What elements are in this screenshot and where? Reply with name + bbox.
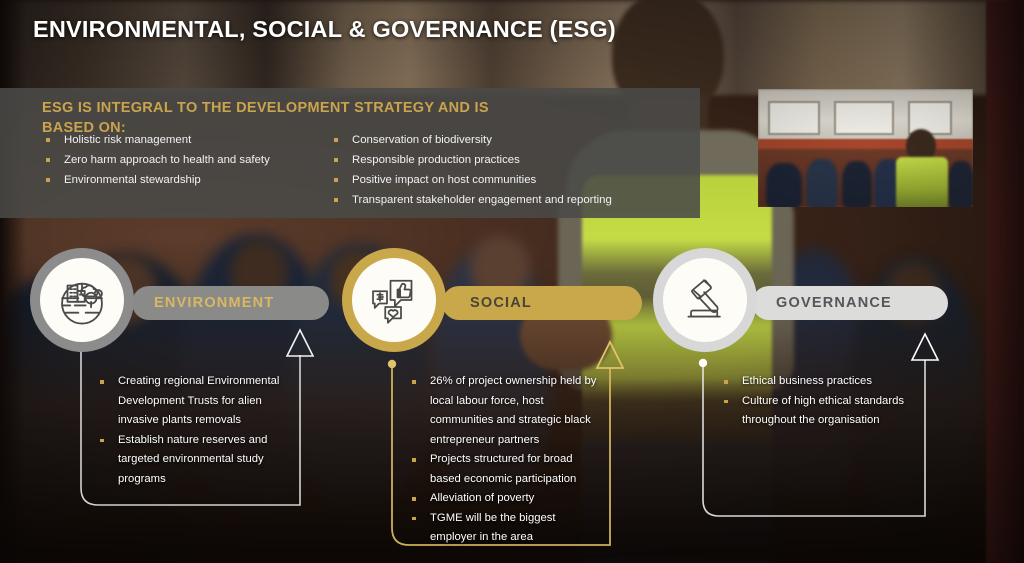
globe-city-trees-icon (53, 271, 111, 329)
social-bullets: 26% of project ownership held by local l… (410, 372, 602, 548)
environment-label: ENVIRONMENT (154, 295, 274, 311)
environment-bullets: Creating regional Environmental Developm… (98, 372, 298, 489)
governance-ring[interactable] (653, 248, 757, 352)
environment-pill[interactable]: ENVIRONMENT (132, 286, 329, 320)
page-title: ENVIRONMENTAL, SOCIAL & GOVERNANCE (ESG) (33, 16, 616, 43)
governance-pill[interactable]: GOVERNANCE (752, 286, 948, 320)
panel-bullet: Positive impact on host communities (330, 170, 690, 190)
social-ring[interactable] (342, 248, 446, 352)
governance-bullet: Ethical business practices (722, 372, 912, 392)
panel-bullet: Transparent stakeholder engagement and r… (330, 190, 690, 210)
panel-bullet: Responsible production practices (330, 150, 690, 170)
panel-bullet: Conservation of biodiversity (330, 130, 690, 150)
environment-ring[interactable] (30, 248, 134, 352)
governance-label: GOVERNANCE (776, 295, 892, 311)
governance-bullets: Ethical business practices Culture of hi… (722, 372, 912, 431)
environment-bullet: Creating regional Environmental Developm… (98, 372, 298, 431)
panel-bullet: Holistic risk management (42, 130, 342, 150)
gavel-icon (677, 272, 733, 328)
social-label: SOCIAL (470, 295, 532, 311)
panel-bullets-left: Holistic risk management Zero harm appro… (42, 130, 342, 190)
panel-heading-line1: ESG IS INTEGRAL TO THE DEVELOPMENT STRAT… (42, 98, 562, 118)
panel-bullet: Zero harm approach to health and safety (42, 150, 342, 170)
community-engagement-photo (758, 89, 973, 207)
panel-bullets-right: Conservation of biodiversity Responsible… (330, 130, 690, 210)
panel-bullet: Environmental stewardship (42, 170, 342, 190)
esg-slide: ENVIRONMENTAL, SOCIAL & GOVERNANCE (ESG)… (0, 0, 1024, 563)
social-bullet: TGME will be the biggest employer in the… (410, 509, 602, 548)
social-pill[interactable]: SOCIAL (442, 286, 642, 320)
governance-bullet: Culture of high ethical standards throug… (722, 392, 912, 431)
environment-bullet: Establish nature reserves and targeted e… (98, 431, 298, 490)
social-bullet: Alleviation of poverty (410, 489, 602, 509)
speech-bubbles-icon (366, 272, 422, 328)
social-bullet: 26% of project ownership held by local l… (410, 372, 602, 450)
social-bullet: Projects structured for broad based econ… (410, 450, 602, 489)
